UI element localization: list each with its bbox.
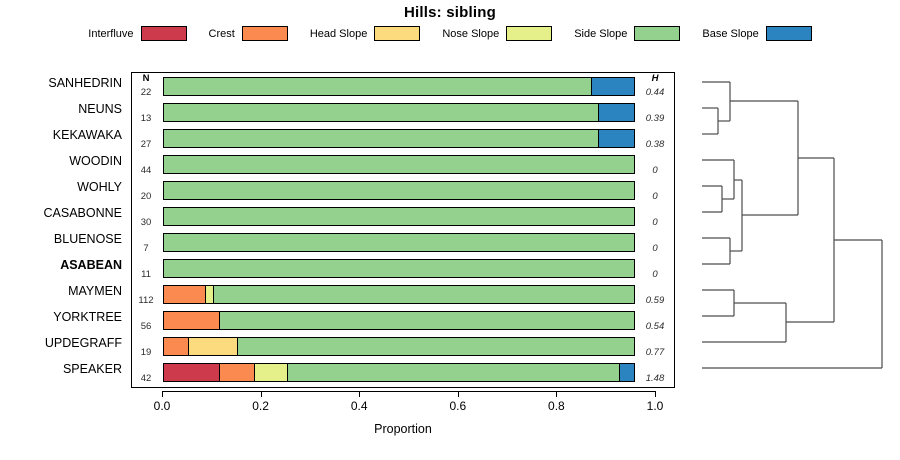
- x-axis-tick-label: 0.0: [142, 399, 182, 413]
- legend-item: Base Slope: [702, 26, 811, 41]
- legend-swatch: [141, 26, 187, 41]
- bar-segment: [164, 234, 634, 251]
- bar-segment: [599, 130, 634, 147]
- x-axis-tick-label: 1.0: [635, 399, 675, 413]
- bar-row: [163, 129, 635, 148]
- y-axis-label: WOHLY: [0, 181, 122, 193]
- h-value: 0.77: [638, 347, 672, 358]
- dendrogram-svg: [690, 70, 895, 388]
- n-column-header: N: [132, 73, 160, 84]
- bar-row: [163, 207, 635, 226]
- y-axis-label: CASABONNE: [0, 207, 122, 219]
- bar-row: [163, 337, 635, 356]
- n-value: 42: [132, 373, 160, 384]
- legend-swatch: [766, 26, 812, 41]
- h-value: 0.38: [638, 139, 672, 150]
- bar-segment: [620, 364, 634, 381]
- stacked-bar: [163, 129, 635, 148]
- legend-item-label: Interfluve: [88, 28, 133, 40]
- legend-item: Side Slope: [574, 26, 680, 41]
- bar-row: [163, 259, 635, 278]
- y-axis-labels: SANHEDRINNEUNSKEKAWAKAWOODINWOHLYCASABON…: [0, 70, 128, 388]
- h-column-header: H: [638, 73, 672, 84]
- h-value: 0: [638, 165, 672, 176]
- plot-area: SANHEDRINNEUNSKEKAWAKAWOODINWOHLYCASABON…: [0, 70, 900, 460]
- dendrogram: [690, 70, 895, 388]
- y-axis-label: YORKTREE: [0, 311, 122, 323]
- bar-panel: N H 221327442030711112561942 0.440.390.3…: [131, 72, 675, 388]
- bar-segment: [164, 364, 220, 381]
- h-value: 0: [638, 191, 672, 202]
- legend-item: Crest: [209, 26, 288, 41]
- y-axis-label: MAYMEN: [0, 285, 122, 297]
- stacked-bar: [163, 77, 635, 96]
- h-value: 0: [638, 243, 672, 254]
- legend-swatch: [634, 26, 680, 41]
- x-axis-line: [162, 391, 655, 392]
- h-value: 0: [638, 217, 672, 228]
- n-value: 56: [132, 321, 160, 332]
- x-axis-tick: [359, 391, 360, 397]
- bar-segment: [164, 156, 634, 173]
- bar-segment: [164, 312, 220, 329]
- bar-segment: [164, 130, 599, 147]
- n-value: 7: [132, 243, 160, 254]
- bar-segment: [206, 286, 214, 303]
- n-value: 13: [132, 113, 160, 124]
- bar-row: [163, 311, 635, 330]
- bar-segment: [164, 78, 592, 95]
- y-axis-label: WOODIN: [0, 155, 122, 167]
- bar-segment: [255, 364, 288, 381]
- stacked-bars: [163, 73, 635, 387]
- bar-segment: [220, 364, 254, 381]
- n-value: 44: [132, 165, 160, 176]
- bar-segment: [599, 104, 634, 121]
- bar-segment: [220, 312, 634, 329]
- stacked-bar: [163, 259, 635, 278]
- n-value: 20: [132, 191, 160, 202]
- legend-item-label: Base Slope: [702, 28, 758, 40]
- legend-swatch: [506, 26, 552, 41]
- n-value: 19: [132, 347, 160, 358]
- h-value: 1.48: [638, 373, 672, 384]
- n-value: 11: [132, 269, 160, 280]
- y-axis-label: KEKAWAKA: [0, 129, 122, 141]
- bar-segment: [164, 182, 634, 199]
- bar-row: [163, 77, 635, 96]
- x-axis-tick-label: 0.2: [241, 399, 281, 413]
- bar-segment: [164, 208, 634, 225]
- y-axis-label: SPEAKER: [0, 363, 122, 375]
- chart-root: Hills: sibling InterfluveCrestHead Slope…: [0, 0, 900, 460]
- bar-segment: [164, 104, 599, 121]
- legend-item: Head Slope: [310, 26, 421, 41]
- stacked-bar: [163, 155, 635, 174]
- y-axis-label: ASABEAN: [0, 259, 122, 271]
- bar-segment: [164, 286, 206, 303]
- bar-segment: [592, 78, 634, 95]
- chart-title: Hills: sibling: [0, 4, 900, 21]
- stacked-bar: [163, 233, 635, 252]
- h-value: 0.59: [638, 295, 672, 306]
- bar-row: [163, 285, 635, 304]
- legend-item-label: Head Slope: [310, 28, 368, 40]
- n-value: 27: [132, 139, 160, 150]
- x-axis-tick: [162, 391, 163, 397]
- bar-segment: [189, 338, 238, 355]
- n-value: 112: [132, 295, 160, 306]
- bar-segment: [164, 260, 634, 277]
- x-axis-tick: [458, 391, 459, 397]
- bar-segment: [288, 364, 620, 381]
- n-value: 30: [132, 217, 160, 228]
- legend-item: Nose Slope: [442, 26, 552, 41]
- bar-row: [163, 363, 635, 382]
- x-axis-tick-label: 0.4: [339, 399, 379, 413]
- y-axis-label: NEUNS: [0, 103, 122, 115]
- bar-segment: [164, 338, 189, 355]
- x-axis-title: Proportion: [131, 422, 675, 436]
- bar-row: [163, 103, 635, 122]
- stacked-bar: [163, 285, 635, 304]
- y-axis-label: SANHEDRIN: [0, 77, 122, 89]
- stacked-bar: [163, 311, 635, 330]
- stacked-bar: [163, 363, 635, 382]
- legend-swatch: [374, 26, 420, 41]
- x-axis-tick: [556, 391, 557, 397]
- h-value: 0: [638, 269, 672, 280]
- legend-item-label: Crest: [209, 28, 235, 40]
- n-value: 22: [132, 87, 160, 98]
- legend: InterfluveCrestHead SlopeNose SlopeSide …: [0, 26, 900, 41]
- h-value: 0.54: [638, 321, 672, 332]
- h-value: 0.44: [638, 87, 672, 98]
- legend-item: Interfluve: [88, 26, 186, 41]
- x-axis-tick: [261, 391, 262, 397]
- legend-swatch: [242, 26, 288, 41]
- y-axis-label: UPDEGRAFF: [0, 337, 122, 349]
- x-axis-tick-label: 0.8: [536, 399, 576, 413]
- y-axis-label: BLUENOSE: [0, 233, 122, 245]
- h-value: 0.39: [638, 113, 672, 124]
- bar-row: [163, 155, 635, 174]
- x-axis-tick-label: 0.6: [438, 399, 478, 413]
- stacked-bar: [163, 181, 635, 200]
- bar-row: [163, 181, 635, 200]
- stacked-bar: [163, 337, 635, 356]
- x-axis-tick: [655, 391, 656, 397]
- bar-segment: [238, 338, 634, 355]
- stacked-bar: [163, 207, 635, 226]
- bar-segment: [214, 286, 634, 303]
- legend-item-label: Nose Slope: [442, 28, 499, 40]
- stacked-bar: [163, 103, 635, 122]
- legend-item-label: Side Slope: [574, 28, 627, 40]
- bar-row: [163, 233, 635, 252]
